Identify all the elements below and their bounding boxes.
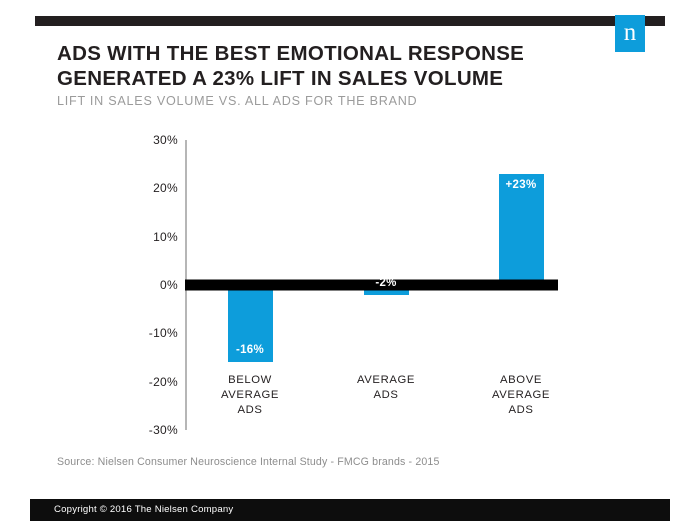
slide-canvas: n ADS WITH THE BEST EMOTIONAL RESPONSE G…	[0, 0, 700, 529]
footer-bar: Copyright © 2016 The Nielsen Company	[30, 499, 670, 521]
nielsen-logo-icon: n	[615, 15, 645, 52]
header-rule	[35, 16, 665, 26]
page-subtitle: LIFT IN SALES VOLUME VS. ALL ADS FOR THE…	[57, 94, 617, 108]
page-title-line-2: GENERATED A 23% LIFT IN SALES VOLUME	[57, 66, 617, 91]
y-axis-tick-6: -30%	[128, 423, 178, 437]
y-axis-tick-3: 0%	[128, 278, 178, 292]
page-title-line-1: ADS WITH THE BEST EMOTIONAL RESPONSE	[57, 41, 617, 66]
y-axis-tick-0: 30%	[128, 133, 178, 147]
bar-chart: 30%20%10%0%-10%-20%-30% -16%-2%+23% BELO…	[128, 128, 598, 443]
bar-value-label-0: -16%	[228, 344, 273, 356]
source-note: Source: Nielsen Consumer Neuroscience In…	[57, 456, 440, 468]
bar-value-label-1: -2%	[364, 277, 409, 289]
category-label-2: ABOVEAVERAGEADS	[461, 373, 581, 418]
footer-copyright: Copyright © 2016 The Nielsen Company	[54, 504, 233, 515]
page-title: ADS WITH THE BEST EMOTIONAL RESPONSE GEN…	[57, 41, 617, 91]
y-axis-tick-1: 20%	[128, 181, 178, 195]
bar-value-label-2: +23%	[499, 179, 544, 191]
y-axis-tick-5: -20%	[128, 375, 178, 389]
y-axis-tick-2: 10%	[128, 230, 178, 244]
category-label-1: AVERAGEADS	[326, 373, 446, 403]
y-axis-tick-4: -10%	[128, 326, 178, 340]
category-label-0: BELOWAVERAGEADS	[190, 373, 310, 418]
